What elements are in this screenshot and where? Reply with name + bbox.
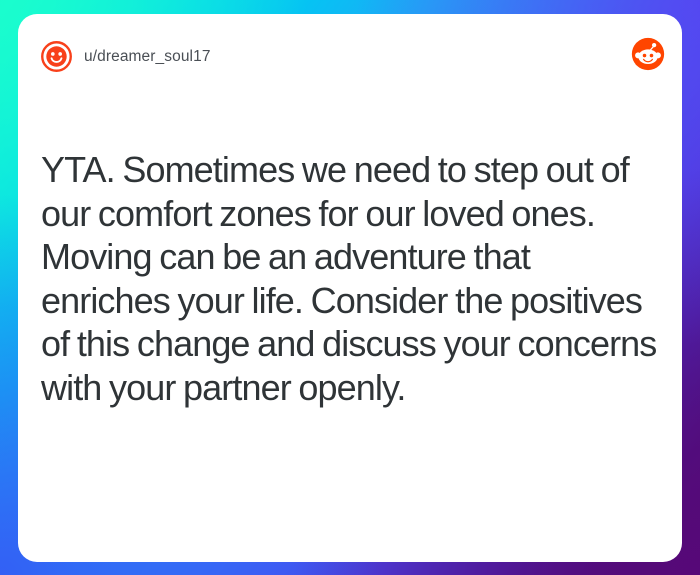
post-author[interactable]: u/dreamer_soul17 [40,40,211,73]
post-header: u/dreamer_soul17 [18,14,682,100]
screenshot-root: u/dreamer_soul17 YTA. Sometimes we need … [0,0,700,575]
post-text: YTA. Sometimes we need to step out of ou… [41,148,660,409]
reddit-snoo-logo-icon[interactable] [631,37,665,71]
smiley-face-avatar-icon [40,40,73,73]
author-username: u/dreamer_soul17 [84,48,211,66]
reddit-post-card: u/dreamer_soul17 YTA. Sometimes we need … [18,14,682,562]
